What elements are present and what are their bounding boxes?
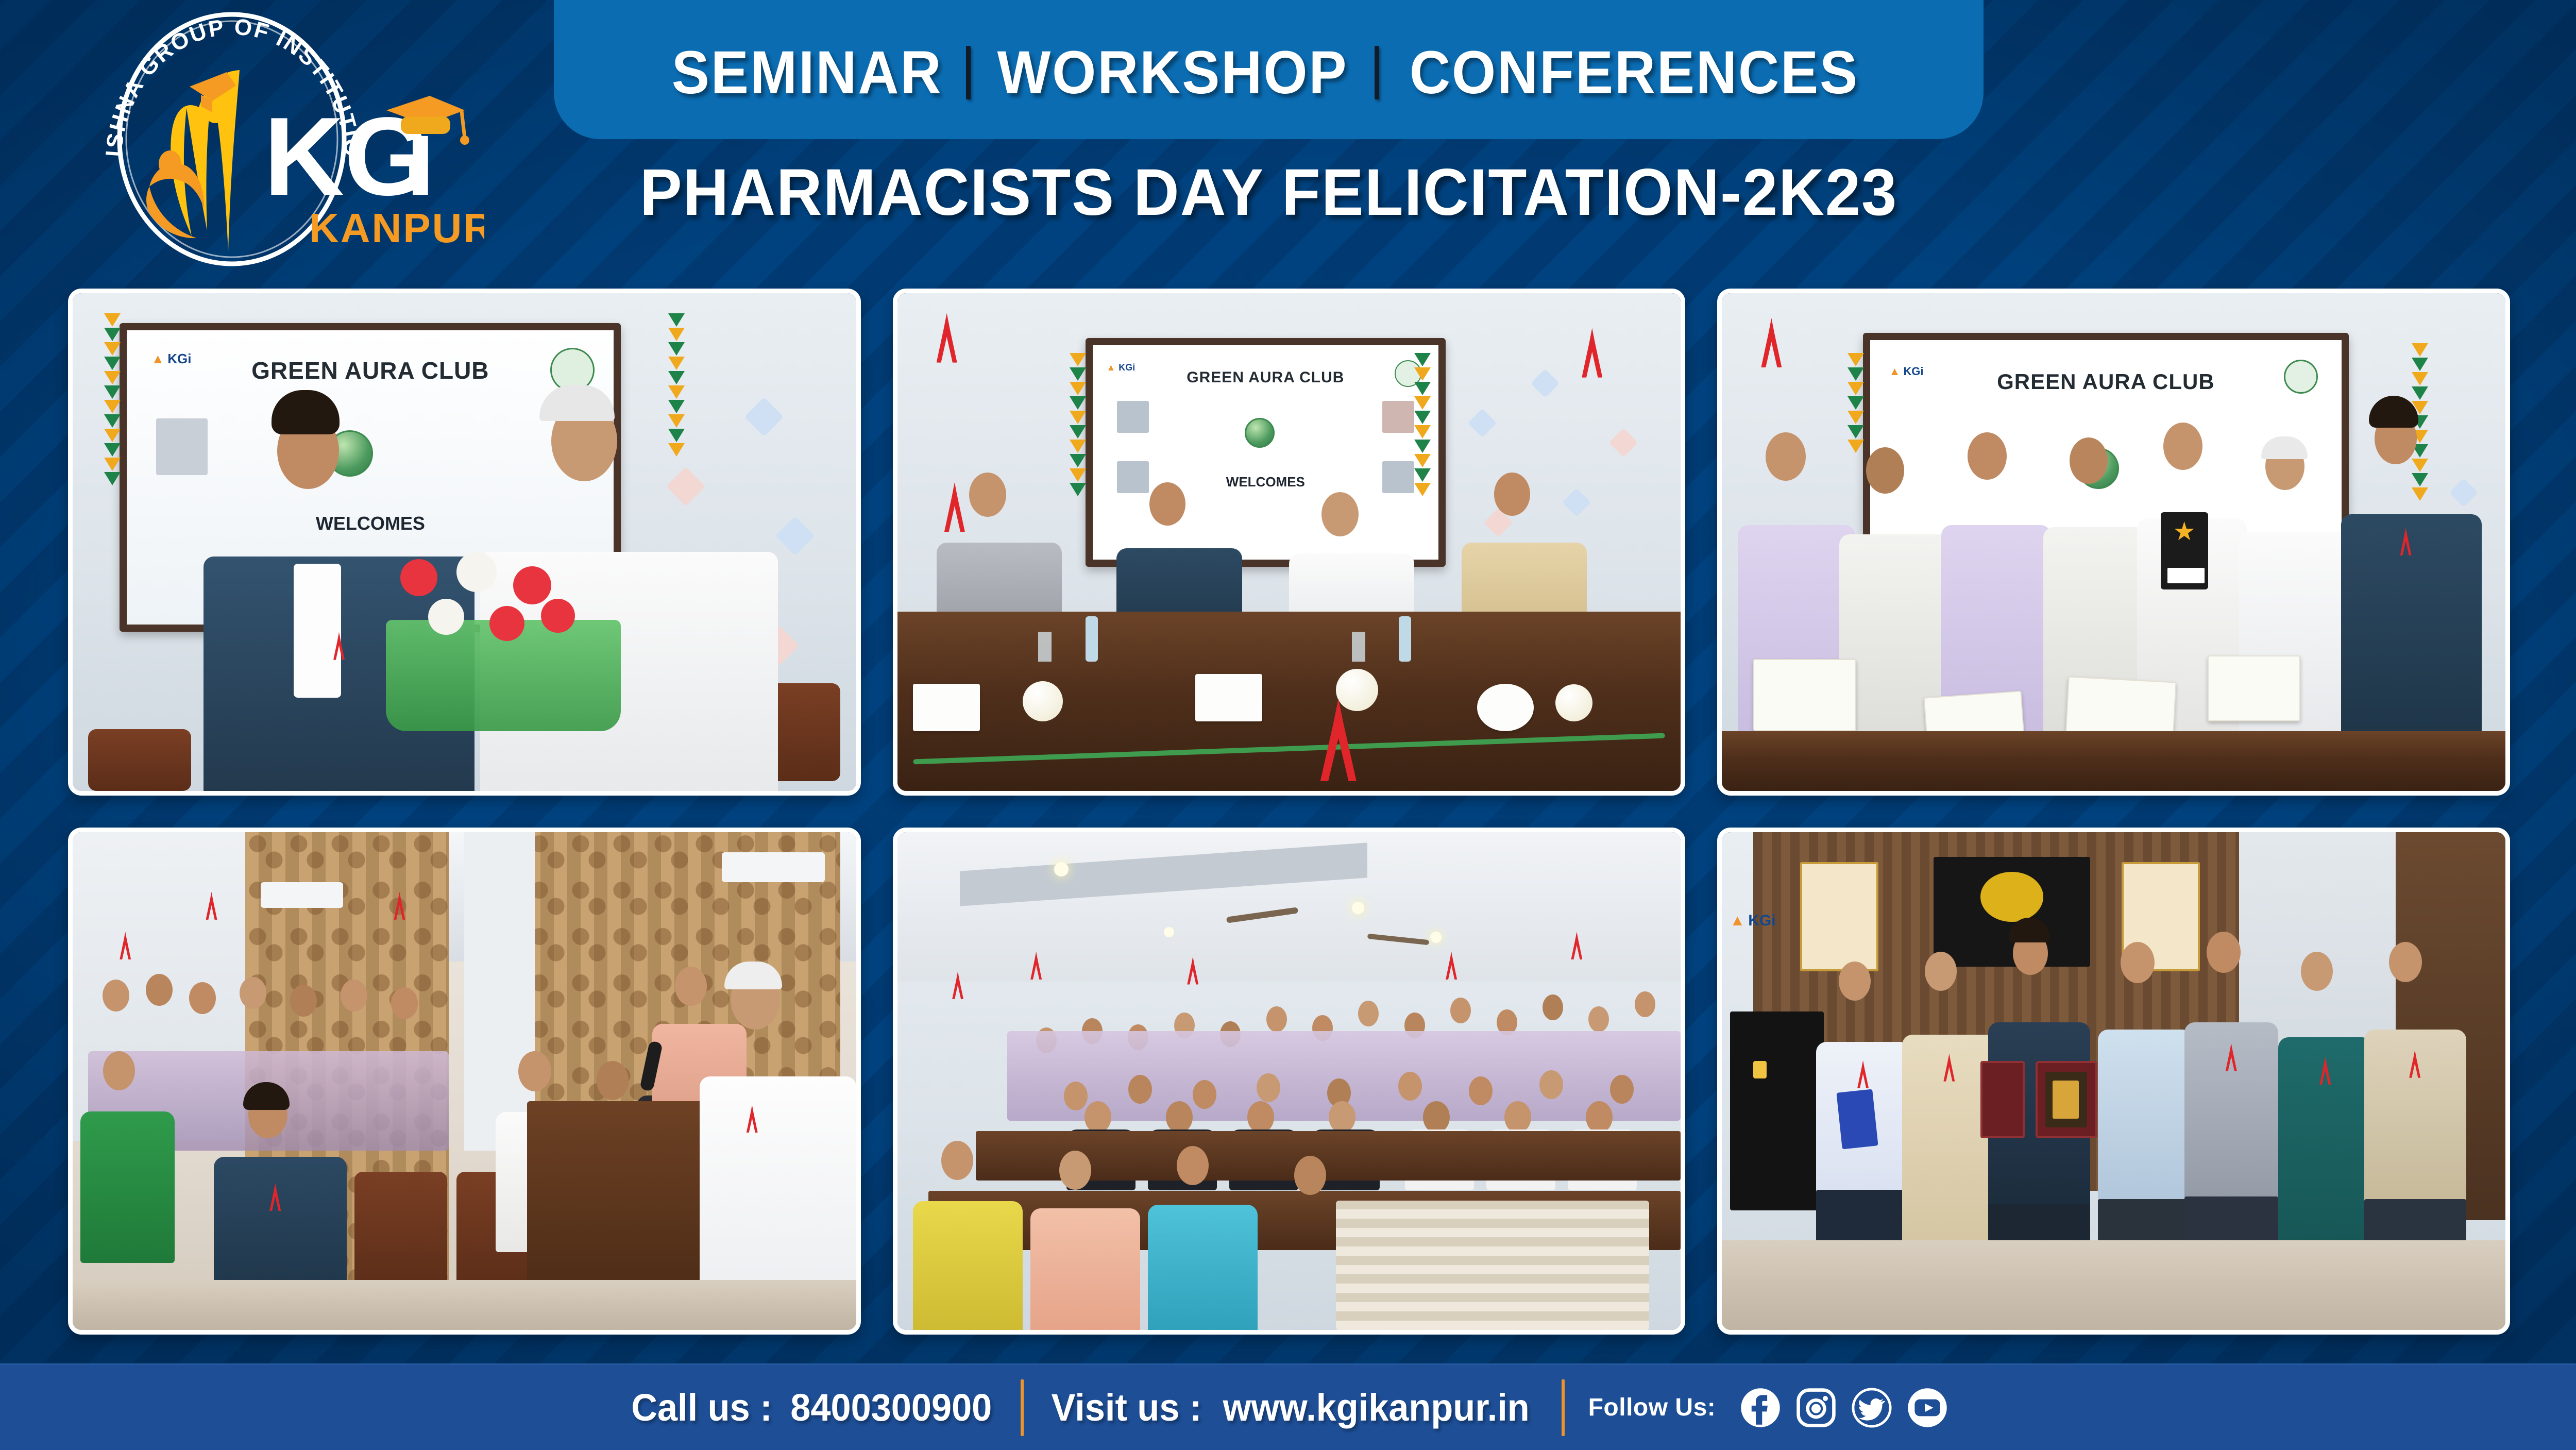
gallery-photo-4[interactable] xyxy=(68,828,861,1335)
scene-dais-panel: ▲KGi GREEN AURA CLUB WELCOMES xyxy=(897,293,1681,791)
photo1-screen-title: GREEN AURA CLUB xyxy=(127,357,614,384)
gallery-photo-5[interactable] xyxy=(893,828,1686,1335)
visit-group: Visit us : www.kgikanpur.in xyxy=(1047,1386,1537,1429)
gallery-photo-2[interactable]: ▲KGi GREEN AURA CLUB WELCOMES xyxy=(893,289,1686,796)
footer-divider-1 xyxy=(1021,1379,1024,1436)
footer-divider-2 xyxy=(1562,1379,1565,1436)
band-item-workshop: WORKSHOP xyxy=(997,38,1348,108)
call-group: Call us : 8400300900 xyxy=(628,1386,997,1429)
promotional-banner: KRISHNA GROUP OF INSTITUTIONS KG i KANPU… xyxy=(0,0,2576,1450)
twitter-icon[interactable] xyxy=(1851,1387,1893,1429)
gallery-photo-6[interactable]: ▲KGi xyxy=(1717,828,2510,1335)
follow-us-label: Follow Us: xyxy=(1588,1393,1716,1422)
instagram-icon[interactable] xyxy=(1795,1387,1837,1429)
scene-felicitation-bouquet: ▲KGi GREEN AURA CLUB WELCOMES xyxy=(73,293,856,791)
social-links xyxy=(1739,1387,1948,1429)
youtube-icon[interactable] xyxy=(1906,1387,1948,1429)
call-label: Call us : xyxy=(631,1386,772,1429)
page-title: PHARMACISTS DAY FELICITATION-2K23 xyxy=(583,155,1955,230)
gallery-photo-1[interactable]: ▲KGi GREEN AURA CLUB WELCOMES xyxy=(68,289,861,796)
phone-number[interactable]: 8400300900 xyxy=(790,1386,992,1429)
kgi-logo: KRISHNA GROUP OF INSTITUTIONS KG i KANPU… xyxy=(72,9,484,267)
scene-student-awards: ▲KGi GREEN AURA CLUB xyxy=(1722,293,2505,791)
scene-podium-address xyxy=(73,832,856,1330)
gallery-photo-3[interactable]: ▲KGi GREEN AURA CLUB xyxy=(1717,289,2510,796)
band-separator-1 xyxy=(966,46,971,99)
scene-group-memento: ▲KGi xyxy=(1722,832,2505,1330)
band-separator-2 xyxy=(1375,46,1379,99)
photo3-screen-title: GREEN AURA CLUB xyxy=(1870,369,2342,394)
photo-gallery: ▲KGi GREEN AURA CLUB WELCOMES xyxy=(68,289,2510,1335)
website-link[interactable]: www.kgikanpur.in xyxy=(1223,1386,1530,1429)
band-item-seminar: SEMINAR xyxy=(672,38,943,108)
visit-label: Visit us : xyxy=(1052,1386,1202,1429)
facebook-icon[interactable] xyxy=(1739,1387,1782,1429)
photo2-screen-title: GREEN AURA CLUB xyxy=(1093,369,1439,386)
band-item-conferences: CONFERENCES xyxy=(1410,38,1859,108)
svg-text:KANPUR: KANPUR xyxy=(309,205,484,251)
scene-audience-hall xyxy=(897,832,1681,1330)
footer-bar: Call us : 8400300900 Visit us : www.kgik… xyxy=(0,1363,2576,1450)
header-band: SEMINAR WORKSHOP CONFERENCES xyxy=(554,0,1984,139)
